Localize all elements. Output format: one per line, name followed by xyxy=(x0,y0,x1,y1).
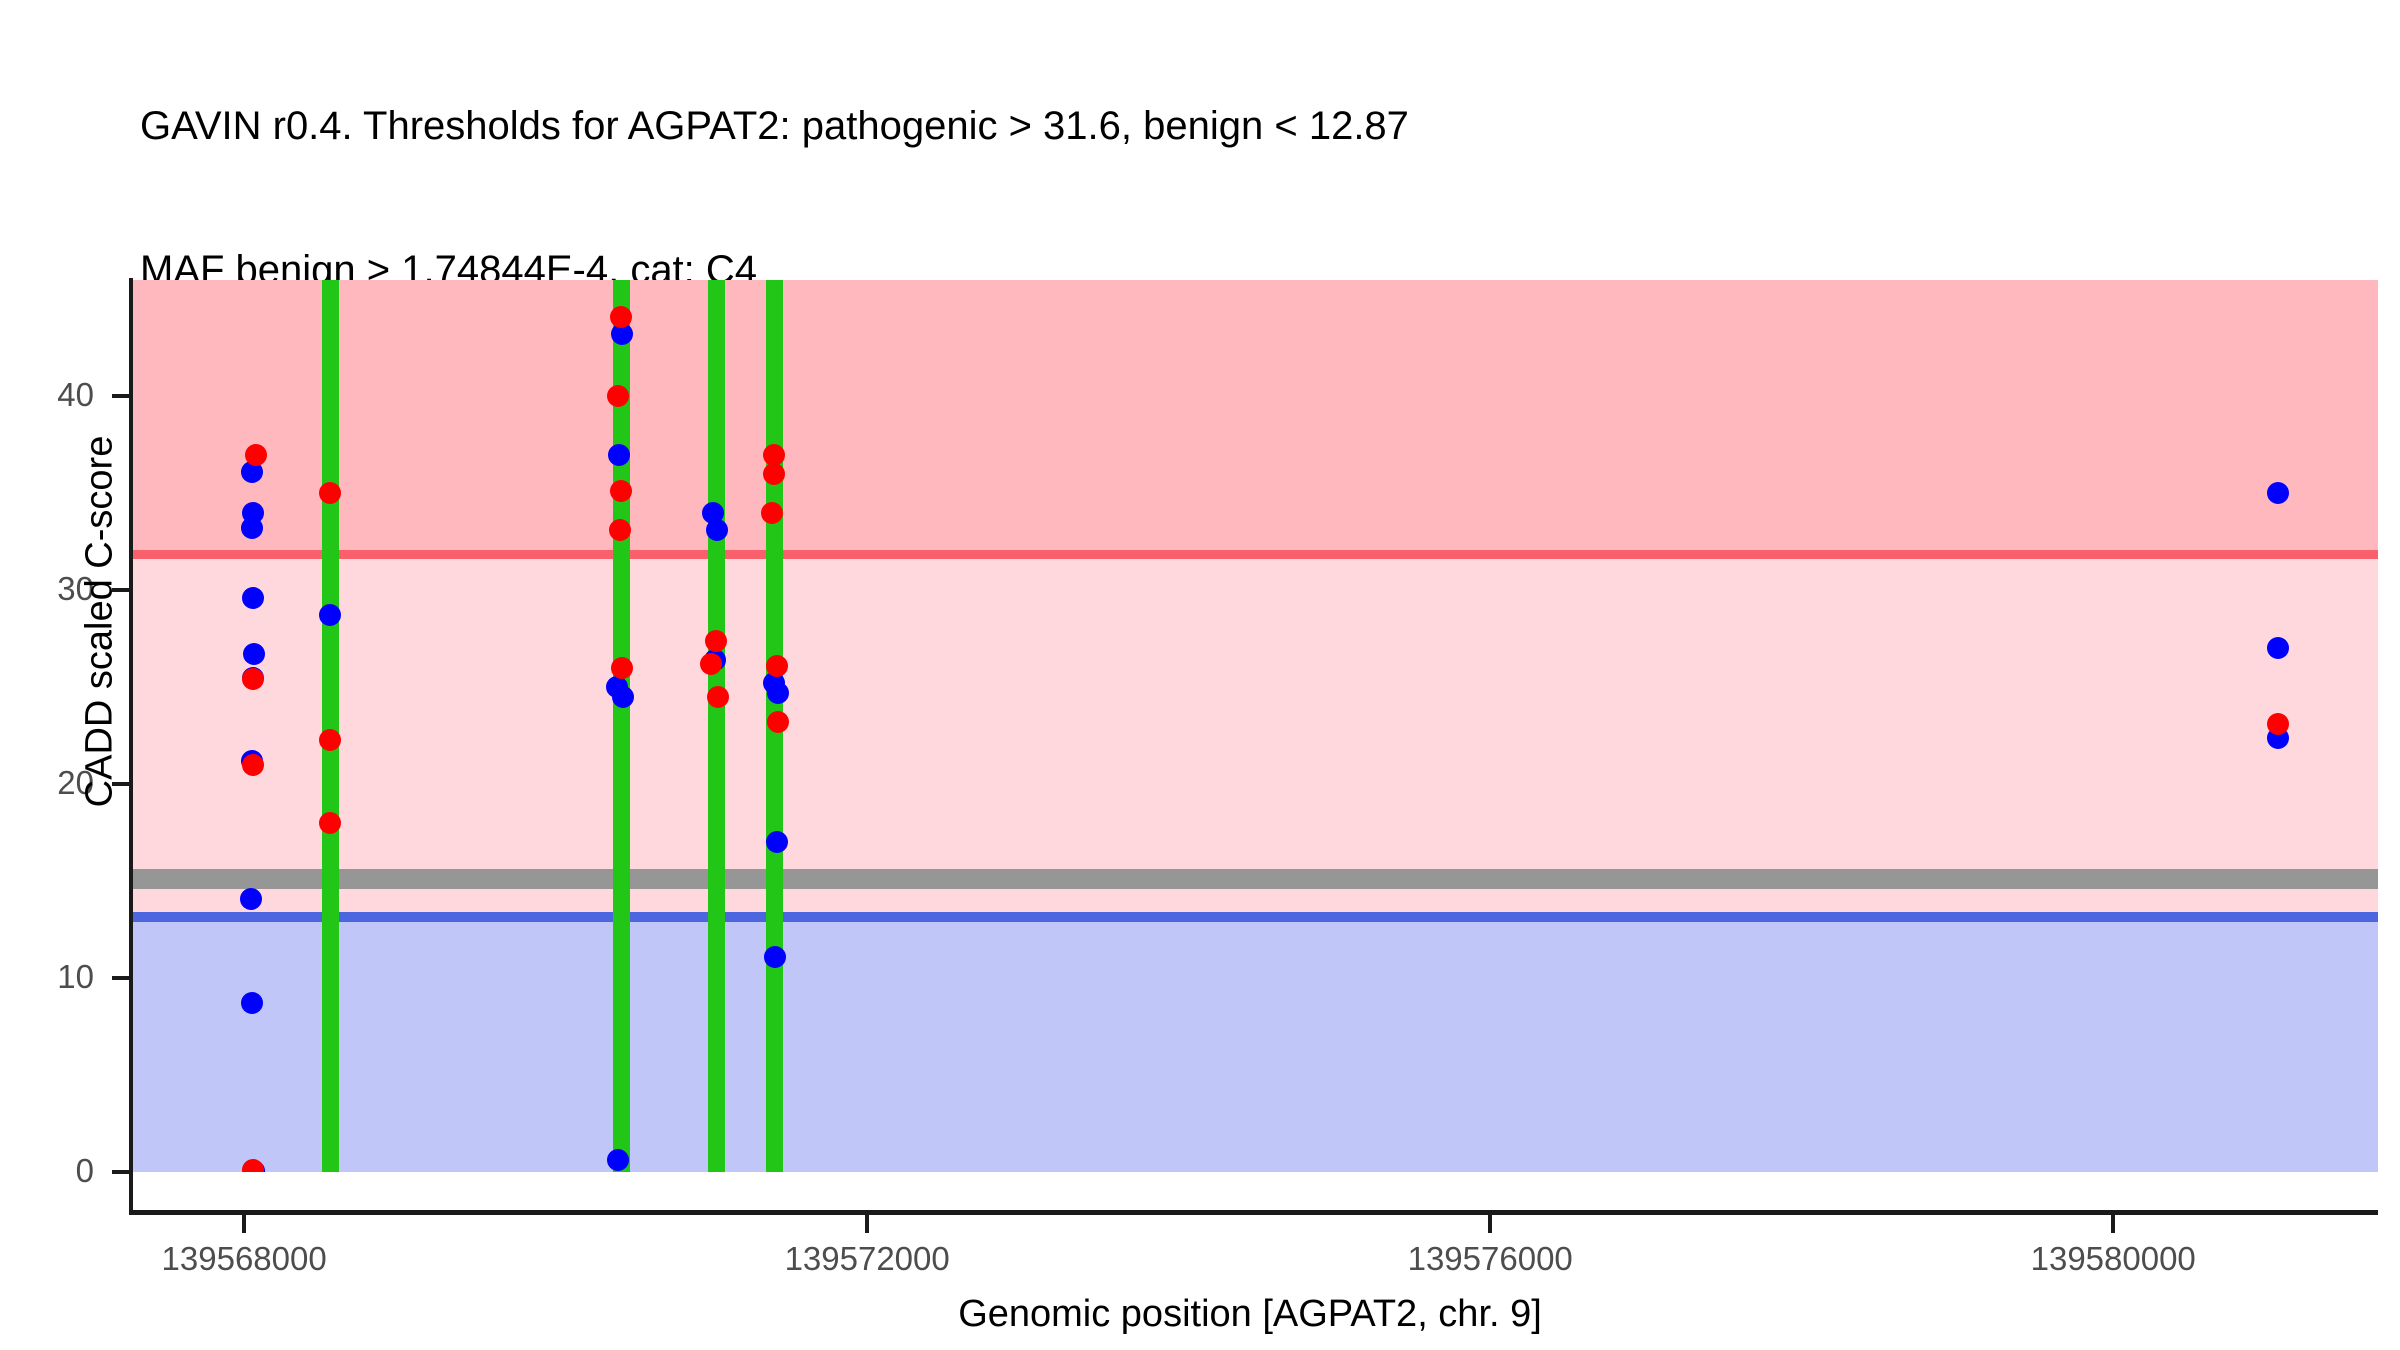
exon-bar-1 xyxy=(613,280,630,1172)
exon-bar-2 xyxy=(708,280,725,1172)
data-point-blue xyxy=(766,831,788,853)
x-tick-mark xyxy=(2111,1215,2115,1233)
y-axis-label: CADD scaled C-score xyxy=(79,222,122,1022)
y-axis-line xyxy=(129,278,133,1174)
data-point-red xyxy=(766,655,788,677)
band-pathogenic-region xyxy=(132,280,2378,559)
x-tick-mark xyxy=(242,1215,246,1233)
data-point-blue xyxy=(612,686,634,708)
band-vous-region xyxy=(132,559,2378,922)
band-benign-region xyxy=(132,922,2378,1172)
plot-panel xyxy=(132,280,2378,1172)
x-tick-mark xyxy=(865,1215,869,1233)
x-tick-label: 139572000 xyxy=(727,1240,1007,1278)
data-point-red xyxy=(245,444,267,466)
exon-bar-0 xyxy=(322,280,339,1172)
data-point-red xyxy=(319,729,341,751)
data-point-blue xyxy=(764,946,786,968)
plot-area: 010203040 139568000139572000139576000139… xyxy=(0,0,2400,1350)
data-point-red xyxy=(319,482,341,504)
y-axis-lower-segment xyxy=(129,1172,133,1214)
x-tick-label: 139576000 xyxy=(1350,1240,1630,1278)
data-point-blue xyxy=(608,444,630,466)
data-point-red xyxy=(319,812,341,834)
data-point-red xyxy=(705,630,727,652)
x-tick-label: 139568000 xyxy=(104,1240,384,1278)
data-point-blue xyxy=(706,519,728,541)
y-tick-mark xyxy=(112,1170,130,1174)
data-point-red xyxy=(610,306,632,328)
x-axis-line xyxy=(129,1210,2378,1215)
data-point-blue xyxy=(243,643,265,665)
data-point-red xyxy=(242,754,264,776)
x-axis-label: Genomic position [AGPAT2, chr. 9] xyxy=(600,1293,1900,1336)
data-point-blue xyxy=(241,992,263,1014)
data-point-red xyxy=(763,463,785,485)
data-point-red xyxy=(761,502,783,524)
data-point-blue xyxy=(240,888,262,910)
y-tick-label: 0 xyxy=(4,1152,94,1190)
data-point-blue xyxy=(241,517,263,539)
data-point-red xyxy=(611,657,633,679)
x-tick-mark xyxy=(1488,1215,1492,1233)
band-fallback-threshold-line xyxy=(132,869,2378,888)
x-tick-label: 139580000 xyxy=(1973,1240,2253,1278)
